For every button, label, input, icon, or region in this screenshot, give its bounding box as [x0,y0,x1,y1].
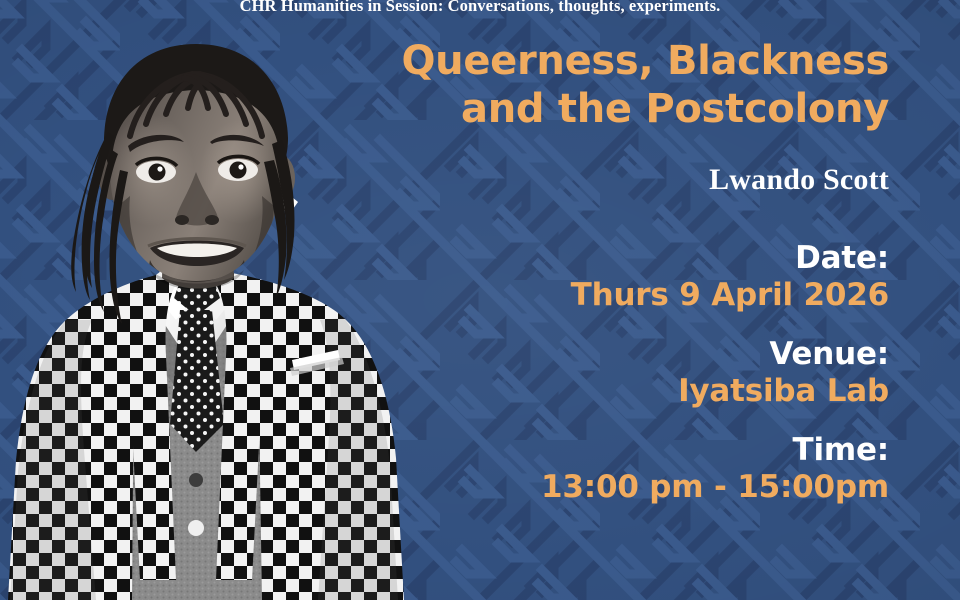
detail-date-value: Thurs 9 April 2026 [369,276,889,314]
detail-date-label: Date: [369,240,889,276]
event-title: Queerness, Blackness and the Postcolony [369,37,889,133]
detail-time: Time: 13:00 pm - 15:00pm [369,432,889,506]
detail-time-value: 13:00 pm - 15:00pm [369,468,889,506]
event-title-line-1: Queerness, Blackness [369,37,889,85]
speaker-name: Lwando Scott [369,163,889,197]
detail-venue: Venue: Iyatsiba Lab [369,336,889,410]
poster-text-column: Queerness, Blackness and the Postcolony … [369,0,889,506]
event-poster: CHR Humanities in Session: Conversations… [0,0,960,600]
detail-venue-label: Venue: [369,336,889,372]
detail-time-label: Time: [369,432,889,468]
event-title-line-2: and the Postcolony [369,85,889,133]
detail-date: Date: Thurs 9 April 2026 [369,240,889,314]
detail-venue-value: Iyatsiba Lab [369,372,889,410]
